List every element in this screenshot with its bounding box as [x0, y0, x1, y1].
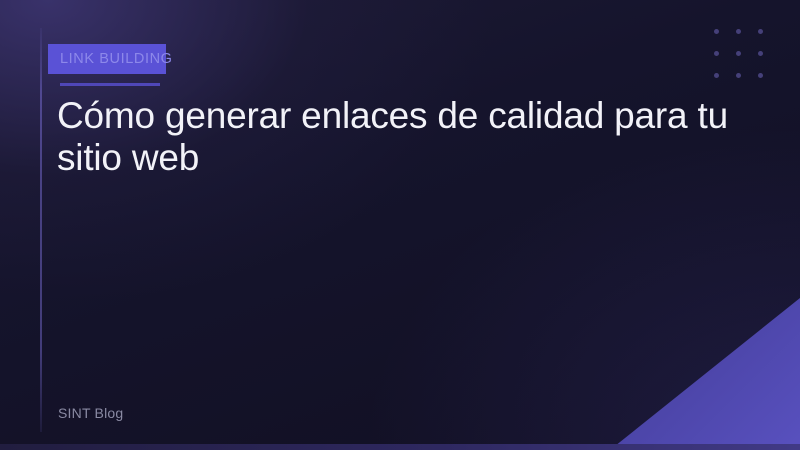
grid-dot: [758, 29, 763, 34]
grid-dot: [758, 51, 763, 56]
bottom-accent-bar: [0, 444, 800, 450]
left-vertical-accent-rule: [40, 28, 42, 432]
kicker-label: LINK BUILDING: [60, 44, 173, 74]
presentation-slide: LINK BUILDING Cómo generar enlaces de ca…: [0, 0, 800, 450]
page-title: Cómo generar enlaces de calidad para tu …: [57, 95, 757, 179]
footer-brand-label: SINT Blog: [58, 405, 123, 421]
grid-dot: [736, 51, 741, 56]
headline-line-1: Cómo generar enlaces de calidad para: [57, 95, 687, 136]
grid-dot: [714, 73, 719, 78]
grid-dot: [714, 51, 719, 56]
grid-dot: [758, 73, 763, 78]
grid-dot: [736, 29, 741, 34]
grid-dot: [714, 29, 719, 34]
corner-wedge-decoration: [610, 298, 800, 450]
grid-dot: [736, 73, 741, 78]
dot-grid-decoration: [714, 29, 780, 95]
kicker-underline-rule: [60, 83, 160, 86]
